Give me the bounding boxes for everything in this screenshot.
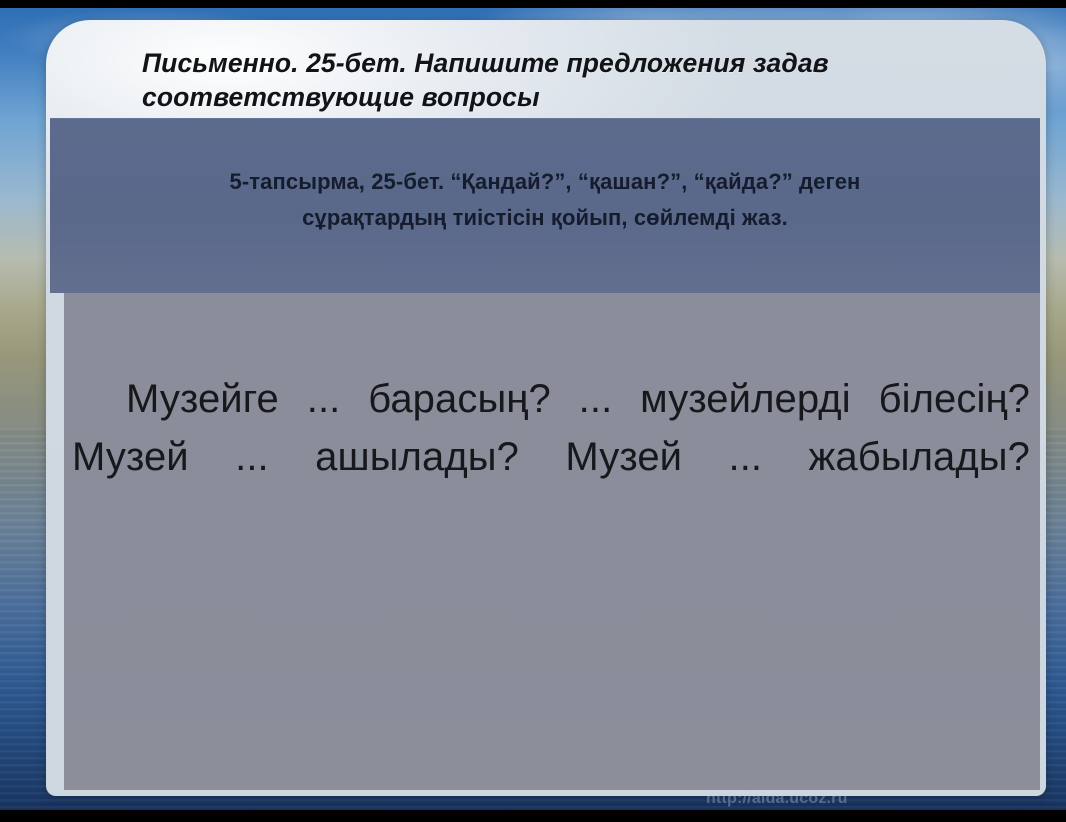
task-instruction-text: 5-тапсырма, 25-бет. “Қандай?”, “қашан?”,…	[90, 164, 1000, 235]
letterbox-bar-top	[0, 0, 1066, 8]
letterbox-bar-bottom	[0, 810, 1066, 822]
exercise-sentences-text: Музейге ... барасың? ... музейлерді біле…	[72, 371, 1030, 544]
site-watermark: http://aida.ucoz.ru	[706, 790, 848, 808]
slide-heading: Письменно. 25-бет. Напишите предложения …	[142, 47, 1032, 114]
task-instruction-band: 5-тапсырма, 25-бет. “Қандай?”, “қашан?”,…	[50, 118, 1040, 293]
exercise-body-panel: Музейге ... барасың? ... музейлерді біле…	[64, 293, 1040, 790]
slide-screenshot: Письменно. 25-бет. Напишите предложения …	[0, 0, 1066, 822]
